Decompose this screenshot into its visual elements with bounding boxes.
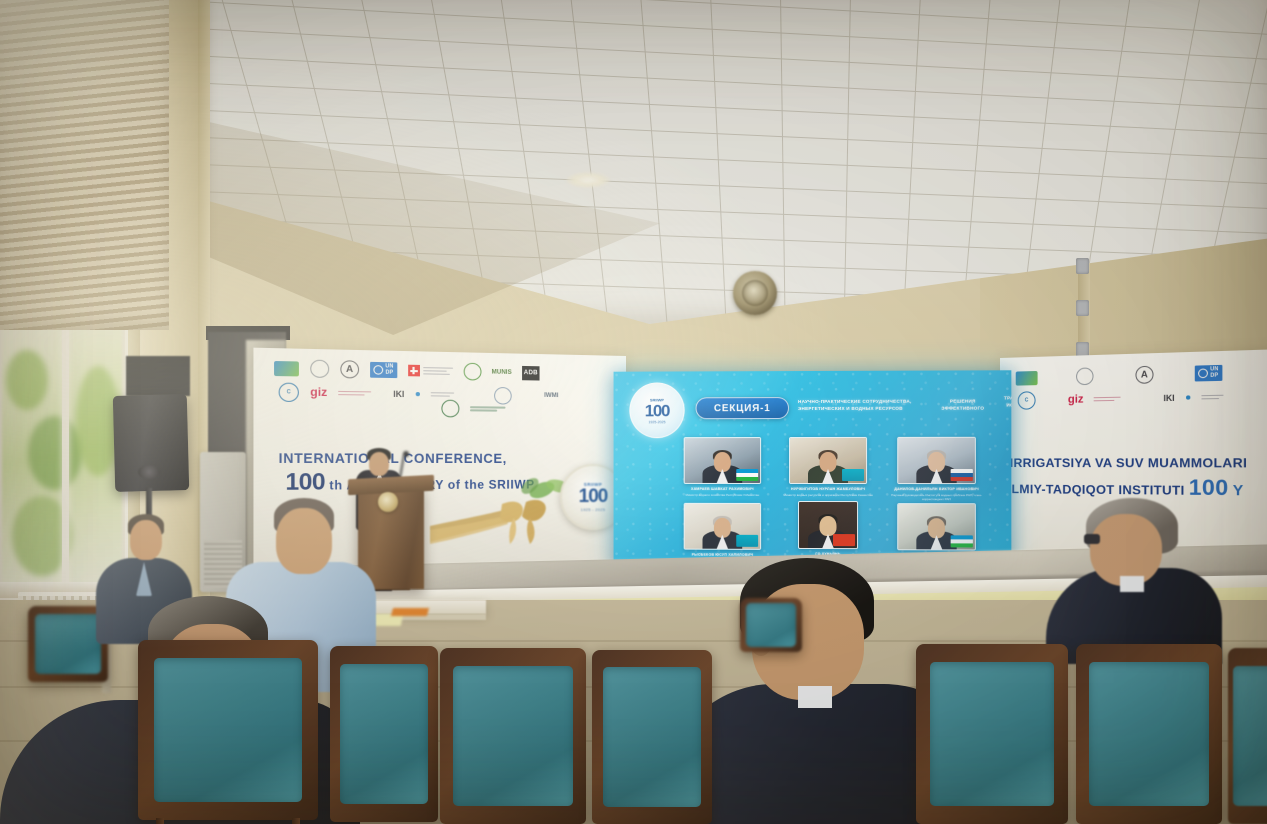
banner-right-title-line1: IRRIGATSIYA VA SUV MUAMMOLARI xyxy=(1010,456,1247,471)
speaker-cone-icon xyxy=(138,465,160,479)
blinds-light-glow xyxy=(0,0,169,330)
wall-vent-icon xyxy=(1076,258,1089,274)
chair[interactable] xyxy=(916,644,1068,824)
a-mark-logo: A xyxy=(340,360,359,378)
iki-logo: IKI xyxy=(393,389,404,399)
conference-hall-photo: A UNDP MUNIS ADB C giz xyxy=(0,0,1267,824)
unesco-logo xyxy=(1076,367,1093,385)
ceiling-light xyxy=(566,172,610,188)
chair[interactable] xyxy=(138,640,318,820)
giz-logo: giz xyxy=(310,386,327,399)
attendee-right-gray-hair xyxy=(1046,498,1222,648)
munis-logo xyxy=(463,363,481,381)
banner-right-institute: ILMIY-TADQIQOT INSTITUTI xyxy=(1008,482,1185,498)
shirt-collar xyxy=(1120,576,1144,592)
banner-right-suffix: Y xyxy=(1233,481,1244,498)
wall-emblem xyxy=(733,271,777,315)
undp-logo: UNDP xyxy=(1195,365,1222,381)
carec-circle-logo: C xyxy=(1018,391,1036,409)
swiss-flag-icon xyxy=(408,365,420,377)
chair[interactable] xyxy=(740,598,802,652)
podium-emblem xyxy=(378,492,398,512)
undp-logo: UNDP xyxy=(370,362,397,378)
wall-vent-icon xyxy=(1076,300,1089,316)
unesco-logo xyxy=(310,360,329,378)
banner-left-100: 100 xyxy=(285,468,325,495)
iki-logo: IKI xyxy=(1164,393,1175,403)
led-presentation-screen[interactable]: SRIIWP 100 1925-2025 СЕКЦИЯ-1 НАУЧНО-ПРА… xyxy=(614,370,1012,568)
giz-logo: giz xyxy=(1068,393,1084,406)
led-screen-sheen xyxy=(614,370,1012,568)
speaker-bracket xyxy=(126,356,190,396)
chair[interactable] xyxy=(440,648,586,824)
microphone-icon xyxy=(403,451,409,457)
chair[interactable] xyxy=(1228,648,1267,824)
banner-right-100: 100 xyxy=(1189,476,1229,501)
chair[interactable] xyxy=(592,650,712,824)
iwmi-logo: IWMI xyxy=(544,393,558,399)
badge-number: 100 xyxy=(579,487,608,506)
badge-bottom-text: 1925 - 2025 xyxy=(581,507,606,512)
chair[interactable] xyxy=(1076,644,1222,824)
carec-circle-logo: C xyxy=(279,383,299,403)
chair[interactable] xyxy=(330,646,438,822)
carec-logo xyxy=(1016,370,1038,385)
carec-logo xyxy=(274,360,299,375)
a-mark-logo: A xyxy=(1135,366,1153,384)
shirt-collar xyxy=(798,686,832,708)
window-mullion xyxy=(62,326,69,594)
adb-logo: ADB xyxy=(522,365,539,380)
speaker-head xyxy=(369,452,389,476)
munis-label: MUNIS xyxy=(492,369,512,376)
green-org-logo xyxy=(441,400,459,418)
banner-left-title-line1: INTERNATIONAL CONFERENCE, xyxy=(279,451,507,466)
glasses-icon xyxy=(1084,534,1100,544)
